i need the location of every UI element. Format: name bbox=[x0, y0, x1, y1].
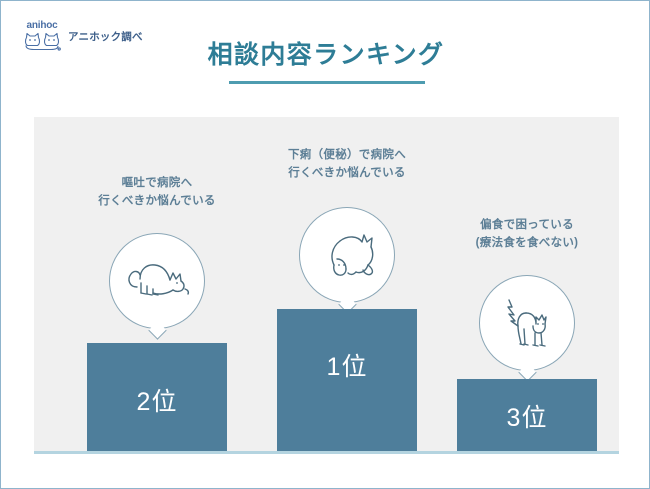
speech-bubble bbox=[479, 275, 575, 371]
standing-cat-bushy-tail-icon bbox=[497, 293, 557, 353]
chart-baseline bbox=[34, 451, 619, 454]
chart-column-rank2: 嘔吐で病院へ 行くべきか悩んでいる bbox=[87, 117, 227, 453]
crouching-cat-icon bbox=[316, 227, 378, 283]
chart-panel: 嘔吐で病院へ 行くべきか悩んでいる bbox=[34, 117, 619, 453]
bar-rank-label: 2位 bbox=[137, 382, 178, 418]
bar-rank3: 3位 bbox=[457, 379, 597, 453]
caption-line-2: 行くべきか悩んでいる bbox=[288, 167, 405, 179]
infographic-canvas: anihoc アニホック調べ 相談内容ランキング 嘔吐で病 bbox=[0, 0, 650, 489]
speech-bubble bbox=[109, 233, 205, 329]
caption-line-2: (療法食を食べない) bbox=[476, 237, 579, 249]
bar-rank1: 1位 bbox=[277, 309, 417, 453]
caption-line-2: 行くべきか悩んでいる bbox=[98, 195, 215, 207]
chart-column-rank3: 偏食で困っている (療法食を食べない) bbox=[457, 117, 597, 453]
caption-line-1: 嘔吐で病院へ bbox=[122, 177, 193, 189]
bar-caption: 嘔吐で病院へ 行くべきか悩んでいる bbox=[62, 175, 252, 211]
bar-caption: 偏食で困っている (療法食を食べない) bbox=[432, 217, 622, 253]
title-underline bbox=[229, 81, 425, 84]
caption-line-1: 下痢（便秘）で病院へ bbox=[288, 149, 406, 161]
bar-rank-label: 3位 bbox=[507, 398, 548, 434]
chart-column-rank1: 下痢（便秘）で病院へ 行くべきか悩んでいる bbox=[277, 117, 417, 453]
logo-wordmark: anihoc bbox=[26, 21, 57, 31]
page-title: 相談内容ランキング bbox=[1, 35, 650, 71]
caption-line-1: 偏食で困っている bbox=[480, 219, 574, 231]
bar-rank2: 2位 bbox=[87, 343, 227, 453]
stretching-vomiting-cat-icon bbox=[123, 255, 191, 307]
bar-rank-label: 1位 bbox=[327, 347, 368, 383]
speech-bubble bbox=[299, 207, 395, 303]
bar-caption: 下痢（便秘）で病院へ 行くべきか悩んでいる bbox=[252, 147, 442, 183]
